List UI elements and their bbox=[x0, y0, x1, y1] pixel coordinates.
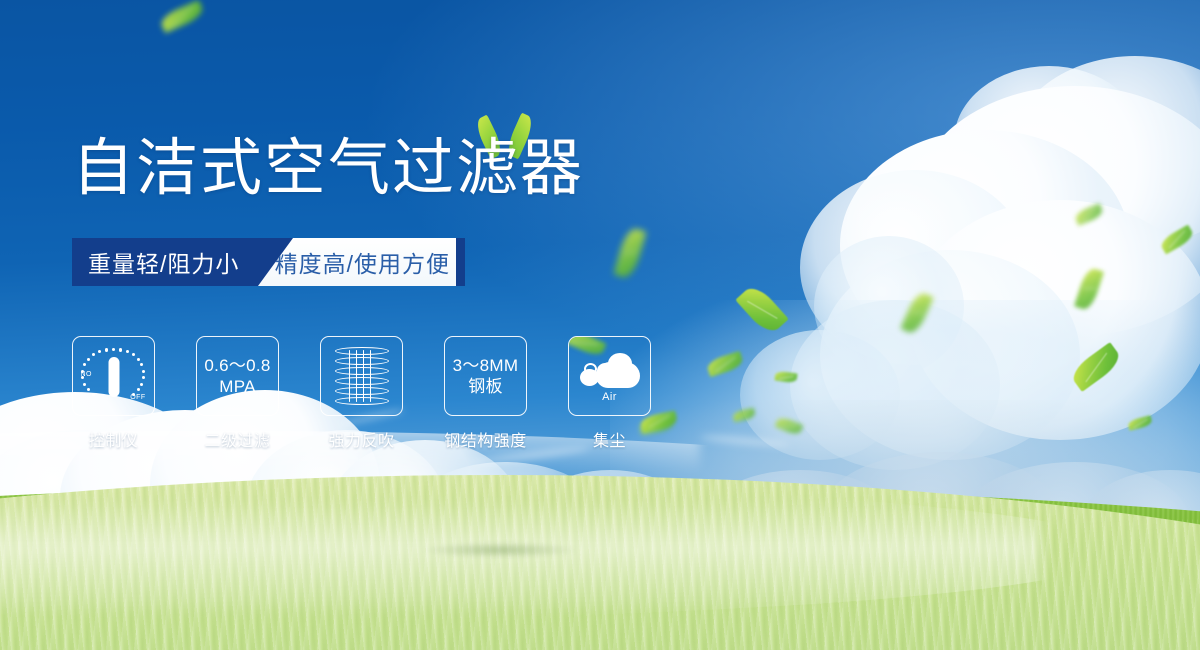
air-label: Air bbox=[602, 391, 617, 403]
cloud-puff bbox=[910, 86, 1200, 336]
feature-icon-box: Air bbox=[568, 336, 651, 416]
cloud-puff bbox=[814, 236, 964, 376]
gauge-needle bbox=[108, 357, 119, 397]
product-banner: 自洁式空气过滤器 重量轻/阻力小 精度高/使用方便 bbox=[0, 0, 1200, 650]
meadow-shadow-patch bbox=[420, 542, 580, 558]
air-cloud-icon: Air bbox=[579, 352, 641, 400]
feature-list: NO OFF 控制仪 0.6～0.8 MPA 二级过滤 bbox=[72, 336, 651, 451]
feature-icon-box: NO OFF bbox=[72, 336, 155, 416]
feature-label: 钢结构强度 bbox=[444, 427, 527, 451]
feature-item-backblow[interactable]: 强力反吹 bbox=[320, 336, 403, 451]
floating-leaf bbox=[158, 0, 205, 33]
feature-label: 强力反吹 bbox=[328, 427, 394, 451]
cloud-puff bbox=[800, 170, 1030, 365]
gauge-label-no: NO bbox=[81, 371, 92, 378]
cloud-puff bbox=[910, 200, 1200, 440]
subtitle-right-text: 精度高/使用方便 bbox=[275, 245, 464, 279]
feature-label: 二级过滤 bbox=[204, 427, 270, 451]
floating-leaf bbox=[900, 290, 934, 336]
feature-label: 控制仪 bbox=[89, 427, 139, 451]
subtitle-end-cap bbox=[456, 238, 465, 286]
steel-value-line2: 钢板 bbox=[468, 376, 503, 397]
pressure-value-line2: MPA bbox=[219, 376, 255, 397]
feature-icon-box bbox=[320, 336, 403, 416]
floating-leaf bbox=[774, 371, 797, 384]
feature-icon-box: 3～8MM 钢板 bbox=[444, 336, 527, 416]
floating-leaf bbox=[613, 226, 646, 280]
meadow-ground bbox=[0, 420, 1200, 650]
floating-leaf bbox=[1074, 203, 1105, 226]
floating-leaf bbox=[1074, 266, 1104, 312]
feature-label: 集尘 bbox=[593, 427, 626, 451]
page-title: 自洁式空气过滤器 bbox=[72, 138, 584, 200]
feature-item-steel[interactable]: 3～8MM 钢板 钢结构强度 bbox=[444, 336, 527, 451]
filter-stack-icon bbox=[335, 347, 389, 405]
cloud-puff bbox=[954, 66, 1144, 216]
gauge-label-off: OFF bbox=[130, 394, 145, 401]
floating-leaf bbox=[1068, 342, 1124, 392]
feature-item-dust[interactable]: Air 集尘 bbox=[568, 336, 651, 451]
feature-icon-box: 0.6～0.8 MPA bbox=[196, 336, 279, 416]
subtitle-left-text: 重量轻/阻力小 bbox=[72, 245, 239, 279]
subtitle-bar: 重量轻/阻力小 精度高/使用方便 bbox=[72, 238, 464, 286]
subtitle-right-panel: 精度高/使用方便 bbox=[258, 238, 464, 286]
steel-value-line1: 3～8MM bbox=[453, 355, 519, 376]
feature-item-pressure[interactable]: 0.6～0.8 MPA 二级过滤 bbox=[196, 336, 279, 451]
cloud-puff bbox=[840, 130, 1130, 360]
gauge-icon: NO OFF bbox=[81, 345, 147, 407]
feature-item-control[interactable]: NO OFF 控制仪 bbox=[72, 336, 155, 451]
cloud-puff bbox=[1010, 56, 1200, 246]
floating-leaf bbox=[705, 351, 744, 377]
floating-leaf bbox=[735, 282, 789, 337]
pressure-value-line1: 0.6～0.8 bbox=[204, 355, 270, 376]
floating-leaf bbox=[1159, 225, 1196, 255]
